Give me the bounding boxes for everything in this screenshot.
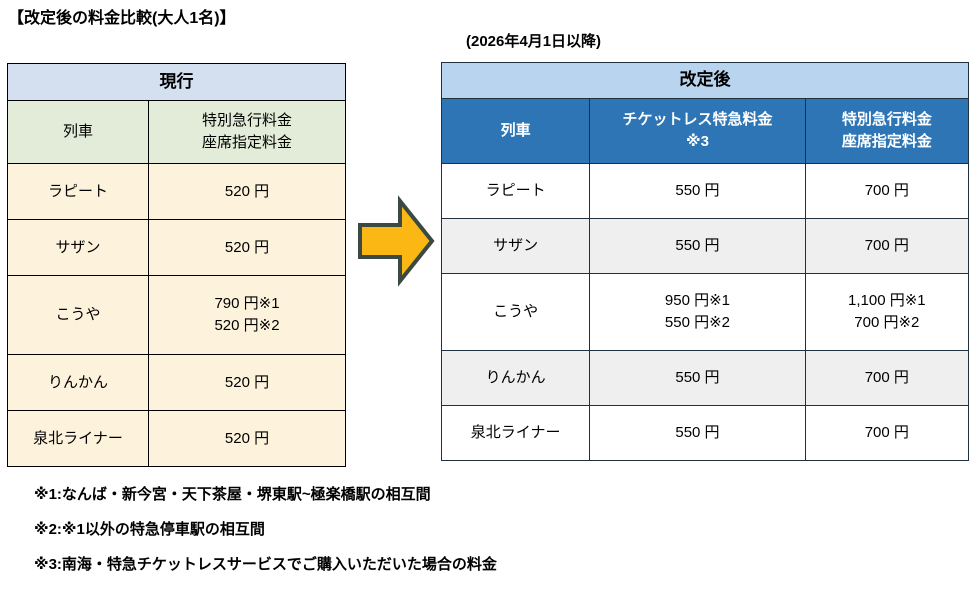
revised-col-header-ticketless-line1: チケットレス特急料金 <box>590 109 804 131</box>
revised-col-header-ticketless: チケットレス特急料金 ※3 <box>590 99 805 164</box>
current-train-name: サザン <box>8 220 149 276</box>
current-fare-value-line2: 520 円※2 <box>149 315 345 337</box>
revised-col-header-ticketless-line2: ※3 <box>590 131 804 153</box>
right-arrow-icon <box>356 195 436 287</box>
revised-special-value: 1,100 円※1 700 円※2 <box>805 274 968 351</box>
table-row: サザン 550 円 700 円 <box>442 219 969 274</box>
revised-col-header-special-line2: 座席指定料金 <box>806 131 968 153</box>
table-caption-row: 改定後 <box>442 63 969 99</box>
current-train-name: ラピート <box>8 164 149 220</box>
current-fare-value: 520 円 <box>149 355 346 411</box>
revised-col-header-special-line1: 特別急行料金 <box>806 109 968 131</box>
table-header-row: 列車 チケットレス特急料金 ※3 特別急行料金 座席指定料金 <box>442 99 969 164</box>
table-row: こうや 950 円※1 550 円※2 1,100 円※1 700 円※2 <box>442 274 969 351</box>
revised-ticketless-value: 550 円 <box>590 406 805 461</box>
footnote-2: ※2:※1以外の特急停車駅の相互間 <box>34 522 954 537</box>
revised-col-header-special: 特別急行料金 座席指定料金 <box>805 99 968 164</box>
revised-train-name: ラピート <box>442 164 590 219</box>
revised-ticketless-value-line1: 950 円※1 <box>590 290 804 312</box>
current-col-header-fare-line1: 特別急行料金 <box>149 110 345 132</box>
current-fare-value: 520 円 <box>149 411 346 467</box>
revised-ticketless-value: 550 円 <box>590 351 805 406</box>
revised-train-name: りんかん <box>442 351 590 406</box>
table-header-row: 列車 特別急行料金 座席指定料金 <box>8 101 346 164</box>
revised-train-name: こうや <box>442 274 590 351</box>
revised-special-value-line1: 1,100 円※1 <box>806 290 968 312</box>
revised-table-date-caption: (2026年4月1日以降) <box>466 30 601 51</box>
table-row: ラピート 550 円 700 円 <box>442 164 969 219</box>
revised-ticketless-value: 550 円 <box>590 219 805 274</box>
footnote-3: ※3:南海・特急チケットレスサービスでご購入いただいた場合の料金 <box>34 557 954 572</box>
table-row: こうや 790 円※1 520 円※2 <box>8 276 346 355</box>
footnotes: ※1:なんば・新今宮・天下茶屋・堺東駅~極楽橋駅の相互間 ※2:※1以外の特急停… <box>34 487 954 592</box>
table-row: 泉北ライナー 520 円 <box>8 411 346 467</box>
revised-special-value: 700 円 <box>805 406 968 461</box>
current-train-name: りんかん <box>8 355 149 411</box>
table-row: ラピート 520 円 <box>8 164 346 220</box>
current-fare-value: 520 円 <box>149 220 346 276</box>
current-col-header-fare: 特別急行料金 座席指定料金 <box>149 101 346 164</box>
revised-special-value: 700 円 <box>805 351 968 406</box>
current-train-name: 泉北ライナー <box>8 411 149 467</box>
revised-train-name: サザン <box>442 219 590 274</box>
current-col-header-fare-line2: 座席指定料金 <box>149 132 345 154</box>
revised-ticketless-value: 550 円 <box>590 164 805 219</box>
revised-special-value: 700 円 <box>805 219 968 274</box>
revised-special-value: 700 円 <box>805 164 968 219</box>
table-row: 泉北ライナー 550 円 700 円 <box>442 406 969 461</box>
current-fare-value: 790 円※1 520 円※2 <box>149 276 346 355</box>
revised-ticketless-value: 950 円※1 550 円※2 <box>590 274 805 351</box>
revised-ticketless-value-line2: 550 円※2 <box>590 312 804 334</box>
table-caption-row: 現行 <box>8 64 346 101</box>
revised-special-value-line2: 700 円※2 <box>806 312 968 334</box>
page-title: 【改定後の料金比較(大人1名)】 <box>8 4 236 28</box>
table-row: りんかん 550 円 700 円 <box>442 351 969 406</box>
table-row: サザン 520 円 <box>8 220 346 276</box>
revised-col-header-train: 列車 <box>442 99 590 164</box>
current-col-header-train: 列車 <box>8 101 149 164</box>
current-fare-table: 現行 列車 特別急行料金 座席指定料金 ラピート 520 円 サザン 520 円… <box>7 63 346 467</box>
table-row: りんかん 520 円 <box>8 355 346 411</box>
revised-table-caption: 改定後 <box>442 63 969 99</box>
revised-train-name: 泉北ライナー <box>442 406 590 461</box>
current-table-caption: 現行 <box>8 64 346 101</box>
current-fare-value-line1: 790 円※1 <box>149 293 345 315</box>
footnote-1: ※1:なんば・新今宮・天下茶屋・堺東駅~極楽橋駅の相互間 <box>34 487 954 502</box>
current-fare-value: 520 円 <box>149 164 346 220</box>
revised-fare-table: 改定後 列車 チケットレス特急料金 ※3 特別急行料金 座席指定料金 ラピート … <box>441 62 969 461</box>
current-train-name: こうや <box>8 276 149 355</box>
